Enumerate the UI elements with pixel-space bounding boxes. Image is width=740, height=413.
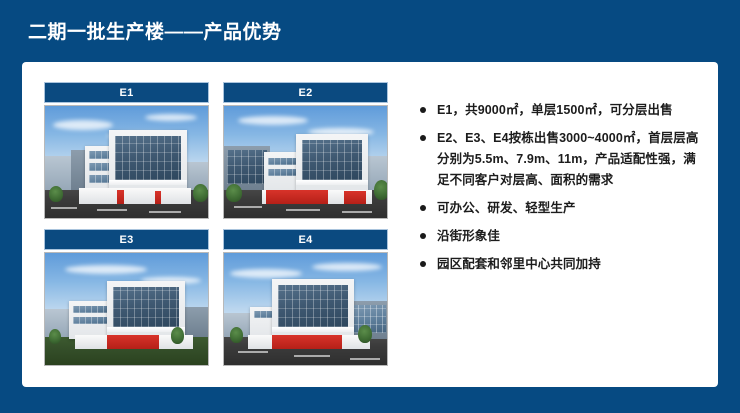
gallery-item-e3[interactable]: E3 bbox=[44, 229, 209, 367]
gallery-photo-e3 bbox=[44, 252, 209, 366]
list-item: E1，共9000㎡，单层1500㎡，可分层出售 bbox=[420, 100, 702, 121]
cloud bbox=[238, 116, 308, 125]
content-panel: E1 bbox=[22, 62, 718, 387]
tree bbox=[358, 325, 372, 343]
gallery-item-e1[interactable]: E1 bbox=[44, 82, 209, 220]
gallery-photo-e4 bbox=[223, 252, 388, 366]
red-storefront bbox=[117, 190, 124, 204]
building-render-e3 bbox=[45, 253, 208, 365]
tree bbox=[49, 186, 63, 202]
road-marking bbox=[342, 211, 372, 213]
curtain-wall bbox=[115, 136, 181, 180]
road-marking bbox=[294, 355, 330, 357]
road-marking bbox=[286, 209, 320, 211]
road-marking bbox=[238, 351, 268, 353]
gallery-photo-e1 bbox=[44, 105, 209, 219]
bottom-accent-bar bbox=[0, 387, 740, 413]
image-gallery-grid: E1 bbox=[44, 82, 388, 367]
bullet-dot-icon bbox=[420, 233, 426, 239]
road-marking bbox=[149, 211, 181, 213]
gallery-caption-e1: E1 bbox=[44, 82, 209, 103]
list-item: E2、E3、E4按栋出售3000~4000㎡，首层层高分别为5.5m、7.9m、… bbox=[420, 128, 702, 191]
list-item: 沿街形象佳 bbox=[420, 226, 702, 247]
list-item: 可办公、研发、轻型生产 bbox=[420, 198, 702, 219]
building-render-e1 bbox=[45, 106, 208, 218]
bullet-text: E1，共9000㎡，单层1500㎡，可分层出售 bbox=[437, 100, 702, 121]
curtain-wall bbox=[113, 287, 179, 327]
cloud bbox=[145, 114, 197, 121]
bullet-dot-icon bbox=[420, 107, 426, 113]
feature-bullet-list: E1，共9000㎡，单层1500㎡，可分层出售 E2、E3、E4按栋出售3000… bbox=[420, 100, 702, 282]
cloud bbox=[53, 120, 113, 130]
bullet-text: 园区配套和邻里中心共同加持 bbox=[437, 254, 702, 275]
gallery-item-e2[interactable]: E2 bbox=[223, 82, 388, 220]
road-marking bbox=[51, 207, 77, 209]
bullet-dot-icon bbox=[420, 135, 426, 141]
tree bbox=[226, 184, 242, 202]
road-marking bbox=[234, 206, 262, 208]
curtain-wall bbox=[278, 285, 348, 327]
tree bbox=[230, 327, 243, 343]
curtain-wall bbox=[302, 140, 362, 180]
bullet-text: 可办公、研发、轻型生产 bbox=[437, 198, 702, 219]
bullet-text: 沿街形象佳 bbox=[437, 226, 702, 247]
gallery-item-e4[interactable]: E4 bbox=[223, 229, 388, 367]
podium bbox=[79, 188, 191, 204]
gallery-caption-e3: E3 bbox=[44, 229, 209, 250]
gallery-photo-e2 bbox=[223, 105, 388, 219]
road-marking bbox=[97, 209, 127, 211]
cloud bbox=[230, 269, 302, 278]
list-item: 园区配套和邻里中心共同加持 bbox=[420, 254, 702, 275]
curtain-wall bbox=[227, 150, 267, 184]
facade-band bbox=[296, 180, 368, 185]
tree bbox=[171, 327, 184, 344]
building-render-e4 bbox=[224, 253, 387, 365]
tree bbox=[49, 329, 61, 344]
cloud bbox=[65, 265, 147, 274]
tree bbox=[374, 180, 387, 200]
red-storefront bbox=[107, 335, 159, 349]
red-storefront bbox=[155, 191, 161, 204]
tree bbox=[193, 184, 208, 202]
slide-root: 二期一批生产楼——产品优势 E1 bbox=[0, 0, 740, 413]
red-storefront bbox=[344, 191, 366, 204]
gallery-caption-e4: E4 bbox=[223, 229, 388, 250]
facade-band bbox=[272, 327, 354, 332]
bullet-text: E2、E3、E4按栋出售3000~4000㎡，首层层高分别为5.5m、7.9m、… bbox=[437, 128, 702, 191]
road-marking bbox=[350, 358, 380, 360]
building-render-e2 bbox=[224, 106, 387, 218]
facade-band bbox=[109, 180, 187, 185]
bullet-dot-icon bbox=[420, 261, 426, 267]
gallery-caption-e2: E2 bbox=[223, 82, 388, 103]
page-title: 二期一批生产楼——产品优势 bbox=[28, 21, 282, 45]
red-storefront bbox=[272, 335, 342, 349]
red-storefront bbox=[266, 190, 328, 204]
cloud bbox=[312, 263, 382, 271]
bullet-dot-icon bbox=[420, 205, 426, 211]
